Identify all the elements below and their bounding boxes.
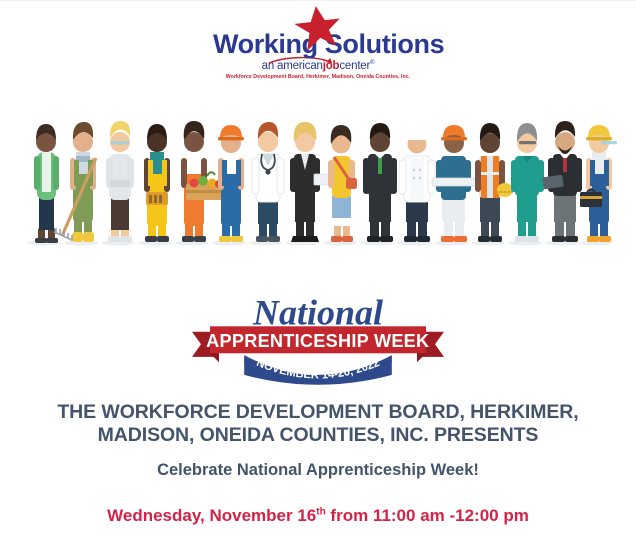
logo-wrapper: Working Solutions an americanjobcenter® … (213, 6, 423, 80)
working-solutions-logo: Working Solutions an americanjobcenter® … (0, 6, 636, 83)
subheading: Celebrate National Apprenticeship Week! (18, 461, 618, 480)
date-ordinal-suffix: th (316, 506, 325, 517)
figure-nurse-in-scrubs (511, 123, 544, 242)
figure-businessman-with-tablet (542, 121, 582, 242)
registered-mark: ® (370, 61, 374, 67)
headline-line-2: MADISON, ONEIDA COUNTIES, INC. PRESENTS (18, 424, 618, 447)
logo-tagline: an americanjobcenter® (213, 60, 423, 72)
figure-construction-worker-yellow (144, 124, 170, 242)
figure-student-with-bag (328, 125, 357, 242)
national-apprenticeship-week-badge: National APPRENTICESHIP WEEK NOVEMBER 14… (0, 283, 636, 393)
page-top-edge (0, 0, 636, 1)
figure-farm-worker-with-produce (181, 121, 224, 242)
figure-builder-blue-overalls (218, 125, 244, 242)
event-date-prefix: Wednesday, November 16 (107, 506, 316, 525)
event-time-range: from 11:00 am -12:00 pm (326, 506, 529, 525)
badge-ribbon-text: APPRENTICESHIP WEEK (206, 330, 430, 351)
figure-doctor-lab-coat (252, 122, 284, 242)
flyer-page: Working Solutions an americanjobcenter® … (0, 0, 636, 538)
five-pointed-star-icon (295, 6, 341, 50)
event-datetime: Wednesday, November 16th from 11:00 am -… (18, 506, 618, 526)
figure-technician-with-toolbox (580, 125, 617, 242)
figure-chef-white-uniform (399, 121, 435, 242)
figure-safety-vest-worker (475, 123, 513, 242)
figure-lab-safety-worker (106, 121, 134, 242)
figure-farmer-with-rake (54, 122, 96, 242)
page-title: THE WORKFORCE DEVELOPMENT BOARD, HERKIME… (18, 401, 618, 447)
figure-office-professional-woman (34, 124, 59, 243)
logo-fineprint: Workforce Development Board, Herkimer, M… (213, 74, 423, 80)
headline-line-1: THE WORKFORCE DEVELOPMENT BOARD, HERKIME… (18, 401, 618, 424)
tagline-suffix: center (339, 60, 370, 72)
figure-man-in-suit (363, 123, 397, 242)
diverse-workers-illustration (18, 100, 618, 250)
figure-businesswoman-black-suit (290, 122, 330, 242)
figure-worker-with-blueprints (432, 125, 476, 242)
